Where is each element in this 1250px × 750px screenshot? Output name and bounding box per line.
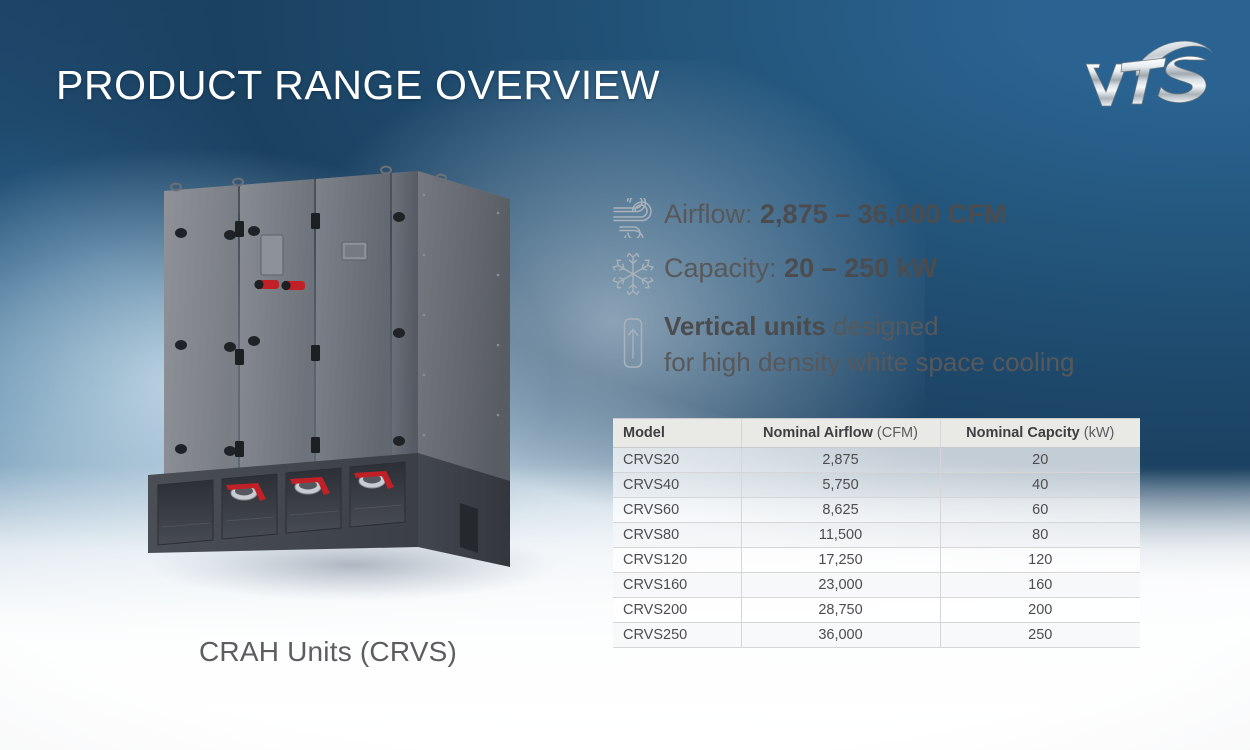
cell-model: CRVS200 xyxy=(613,598,741,623)
cell-model: CRVS120 xyxy=(613,548,741,573)
table-row: CRVS16023,000160 xyxy=(613,573,1140,598)
product-spec-table: Model Nominal Airflow (CFM) Nominal Capc… xyxy=(613,418,1140,648)
cell-model: CRVS20 xyxy=(613,448,741,473)
unit-door-2 xyxy=(240,179,314,479)
spec-row-capacity: Capacity: 20 – 250 kW xyxy=(602,250,1162,296)
table-row: CRVS25036,000250 xyxy=(613,623,1140,648)
cell-capacity: 200 xyxy=(940,598,1140,623)
spec-text-capacity: Capacity: 20 – 250 kW xyxy=(664,250,937,287)
crah-unit-render xyxy=(118,155,558,610)
cell-capacity: 120 xyxy=(940,548,1140,573)
unit-door-panels xyxy=(164,171,418,485)
unit-base-side-cutout xyxy=(460,503,478,553)
cell-airflow: 36,000 xyxy=(741,623,940,648)
column-header-airflow: Nominal Airflow (CFM) xyxy=(741,419,940,448)
cell-capacity: 80 xyxy=(940,523,1140,548)
spec-line2-vertical: for high density white space cooling xyxy=(664,347,1074,377)
spec-label-airflow: Airflow: xyxy=(664,199,760,229)
cell-airflow: 2,875 xyxy=(741,448,940,473)
cell-airflow: 28,750 xyxy=(741,598,940,623)
column-header-capacity-label: Nominal Capcity xyxy=(966,425,1084,441)
spec-text-vertical: Vertical units designedfor high density … xyxy=(664,308,1074,381)
table-header: Model Nominal Airflow (CFM) Nominal Capc… xyxy=(613,419,1140,448)
unit-door-3 xyxy=(316,173,390,473)
spec-row-airflow: Airflow: 2,875 – 36,000 CFM xyxy=(602,196,1162,238)
cell-model: CRVS80 xyxy=(613,523,741,548)
cell-capacity: 60 xyxy=(940,498,1140,523)
spec-list: Airflow: 2,875 – 36,000 CFM xyxy=(602,196,1162,393)
cell-airflow: 5,750 xyxy=(741,473,940,498)
table-row: CRVS20028,750200 xyxy=(613,598,1140,623)
cell-capacity: 250 xyxy=(940,623,1140,648)
column-header-model: Model xyxy=(613,419,741,448)
column-header-model-label: Model xyxy=(623,425,665,441)
vts-logo xyxy=(1078,28,1228,114)
spec-row-vertical: Vertical units designedfor high density … xyxy=(602,308,1162,381)
spec-label-capacity: Capacity: xyxy=(664,253,784,283)
page-title: PRODUCT RANGE OVERVIEW xyxy=(56,62,660,109)
snowflake-icon xyxy=(602,250,664,296)
spec-bold-vertical-units: Vertical units xyxy=(664,311,826,341)
table-row: CRVS608,62560 xyxy=(613,498,1140,523)
column-header-capacity: Nominal Capcity (kW) xyxy=(940,419,1140,448)
cell-airflow: 23,000 xyxy=(741,573,940,598)
cell-airflow: 17,250 xyxy=(741,548,940,573)
column-header-airflow-unit: (CFM) xyxy=(877,425,918,441)
spec-value-capacity: 20 – 250 kW xyxy=(784,253,937,283)
vertical-unit-arrow-icon xyxy=(602,308,664,370)
table-body: CRVS202,87520CRVS405,75040CRVS608,62560C… xyxy=(613,448,1140,648)
cell-capacity: 160 xyxy=(940,573,1140,598)
table-row: CRVS202,87520 xyxy=(613,448,1140,473)
product-caption: CRAH Units (CRVS) xyxy=(118,636,538,668)
spec-rest-designed: designed xyxy=(826,311,939,341)
logo-wordmark xyxy=(1086,56,1206,106)
slide-canvas: PRODUCT RANGE OVERVIEW xyxy=(0,0,1250,750)
table-row: CRVS12017,250120 xyxy=(613,548,1140,573)
column-header-capacity-unit: (kW) xyxy=(1084,425,1115,441)
cell-capacity: 40 xyxy=(940,473,1140,498)
cell-model: CRVS250 xyxy=(613,623,741,648)
table-row: CRVS405,75040 xyxy=(613,473,1140,498)
cell-model: CRVS160 xyxy=(613,573,741,598)
spec-value-airflow: 2,875 – 36,000 CFM xyxy=(760,199,1006,229)
cell-model: CRVS40 xyxy=(613,473,741,498)
unit-controller-box xyxy=(261,235,283,275)
column-header-airflow-label: Nominal Airflow xyxy=(763,425,877,441)
cell-model: CRVS60 xyxy=(613,498,741,523)
table-row: CRVS8011,50080 xyxy=(613,523,1140,548)
cell-airflow: 11,500 xyxy=(741,523,940,548)
unit-door-1 xyxy=(164,185,238,485)
cell-airflow: 8,625 xyxy=(741,498,940,523)
cell-capacity: 20 xyxy=(940,448,1140,473)
airflow-wind-icon xyxy=(602,196,664,238)
spec-text-airflow: Airflow: 2,875 – 36,000 CFM xyxy=(664,196,1006,233)
table-header-row: Model Nominal Airflow (CFM) Nominal Capc… xyxy=(613,419,1140,448)
